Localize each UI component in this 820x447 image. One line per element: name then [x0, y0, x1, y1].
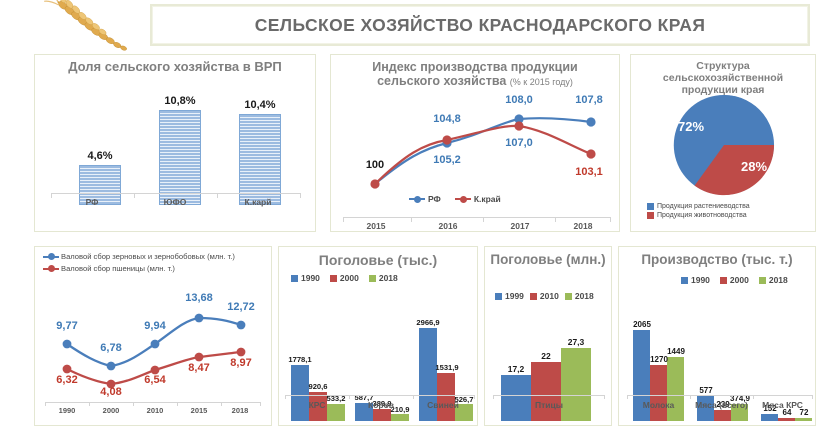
legend-item-crop[interactable]: Продукция растениеводства — [647, 203, 750, 210]
chart-title-production-index: Индекс производства продукции сельского … — [331, 55, 619, 89]
value-label-idx-rf-2016: 104,8 — [419, 113, 475, 125]
pie-value-livestock: 28% — [727, 159, 781, 174]
bar-korov-2018 — [391, 414, 409, 421]
legend-swatch-1999-icon — [495, 293, 502, 300]
wheat-ears-icon — [34, 2, 142, 48]
legend-item-prod-1990[interactable]: 1990 — [681, 275, 710, 285]
chart-production-tons-plot: 2065 1270 1449 577 239 374,9 152 64 72 М… — [627, 291, 813, 421]
bar-grp-yufo — [159, 110, 201, 205]
chart-title-product-structure: Структура сельскохозяйственной продукции… — [631, 55, 815, 96]
value-label-krs-2000: 920,6 — [299, 382, 337, 391]
value-label-grp-kkray: 10,4% — [228, 99, 292, 111]
chart-title-poultry-text: Поголовье (млн.) — [490, 252, 605, 267]
value-label-wheat-2015: 8,47 — [175, 362, 223, 374]
bar-myasa-krs-2000 — [778, 418, 795, 421]
value-label-idx-kkray-2016: 105,2 — [419, 154, 475, 166]
legend-label-wheat: Валовой сбор пшеницы (млн. т.) — [61, 264, 175, 273]
chart-poultry-plot: 17,2 22 27,3 Птицы — [493, 309, 605, 421]
value-label-grp-rf: 4,6% — [68, 150, 132, 162]
value-label-grain-2000: 6,78 — [87, 342, 135, 354]
legend-label-grain: Валовой сбор зерновых и зернобобовых (мл… — [61, 252, 235, 261]
legend-line-rf-icon — [409, 198, 425, 200]
value-label-idx-kkray-2018: 103,1 — [561, 166, 617, 178]
xlabel-grp-rf: РФ — [60, 197, 124, 207]
legend-label-livestock-2018: 2018 — [379, 273, 398, 283]
legend-swatch-crop-icon — [647, 203, 654, 210]
panel-production-index: Индекс производства продукции сельского … — [330, 54, 620, 232]
xlabel-idx-2015: 2015 — [347, 221, 405, 231]
xlabel-grain-1990: 1990 — [45, 406, 89, 415]
legend-item-rf[interactable]: РФ — [409, 194, 441, 204]
value-label-poultry-2010: 22 — [525, 351, 567, 361]
pie-value-crop: 72% — [664, 119, 718, 134]
xlabel-grp-yufo: ЮФО — [143, 197, 207, 207]
legend-label-poultry-2018: 2018 — [575, 291, 594, 301]
dashboard-root: СЕЛЬСКОЕ ХОЗЯЙСТВО КРАСНОДАРСКОГО КРАЯ Д… — [0, 0, 820, 447]
chart-title-grp-share: Доля сельского хозяйства в ВРП — [35, 55, 315, 75]
legend-swatch-2018-icon — [369, 275, 376, 282]
chart-product-structure-plot: 72% 28% — [659, 93, 789, 197]
bar-poultry-1999 — [501, 375, 531, 421]
legend-swatch-prod-2000-icon — [720, 277, 727, 284]
chart-production-index-plot: 100 104,8 105,2 108,0 107,0 107,8 103,1 … — [343, 97, 611, 227]
legend-label-prod-1990: 1990 — [691, 275, 710, 285]
value-label-grain-2018: 12,72 — [215, 301, 267, 313]
bar-moloka-2000 — [650, 365, 667, 421]
xlabel-grain-2018: 2018 — [219, 406, 261, 415]
xlabel-grain-2015: 2015 — [177, 406, 221, 415]
chart-subtitle-text: (% к 2015 году) — [510, 77, 573, 87]
panel-product-structure: Структура сельскохозяйственной продукции… — [630, 54, 816, 232]
legend-item-livestock-2000[interactable]: 2000 — [330, 273, 359, 283]
legend-label-crop: Продукция растениеводства — [657, 203, 750, 210]
value-label-poultry-1999: 17,2 — [495, 364, 537, 374]
value-label-grp-yufo: 10,8% — [148, 95, 212, 107]
legend-label-prod-2000: 2000 — [730, 275, 749, 285]
value-label-grain-1990: 9,77 — [43, 320, 91, 332]
legend-item-kkray[interactable]: К.край — [455, 194, 501, 204]
bar-myasa-2000 — [714, 410, 731, 421]
page-title: СЕЛЬСКОЕ ХОЗЯЙСТВО КРАСНОДАРСКОГО КРАЯ — [255, 15, 706, 36]
header: СЕЛЬСКОЕ ХОЗЯЙСТВО КРАСНОДАРСКОГО КРАЯ — [0, 0, 820, 50]
legend-item-livestock-1990[interactable]: 1990 — [291, 273, 320, 283]
legend-production-index: РФ К.край — [409, 194, 515, 204]
value-label-krs-1990: 1778,1 — [279, 355, 321, 364]
legend-swatch-2000-icon — [330, 275, 337, 282]
panel-grain-harvest: Валовой сбор зерновых и зернобобовых (мл… — [34, 246, 272, 426]
value-label-poultry-2018: 27,3 — [555, 337, 597, 347]
legend-label-rf: РФ — [428, 194, 441, 204]
chart-grp-share-plot: 4,6% 10,8% 10,4% РФ ЮФО К.карй — [51, 83, 301, 205]
xlabel-krs: КРС — [285, 400, 349, 410]
value-label-moloka-1990: 2065 — [625, 320, 659, 329]
panel-production-tons: Производство (тыс. т.) 1990 2000 2018 — [618, 246, 816, 426]
production-index-lines — [343, 97, 611, 209]
legend-swatch-poultry-2018-icon — [565, 293, 572, 300]
bar-grp-kkray — [239, 114, 281, 205]
legend-swatch-livestock-icon — [647, 212, 654, 219]
value-label-sviney-2000: 1531,9 — [427, 363, 467, 372]
value-label-moloka-2018: 1449 — [659, 347, 693, 356]
legend-item-prod-2018[interactable]: 2018 — [759, 275, 788, 285]
legend-swatch-2010-icon — [530, 293, 537, 300]
value-label-moloka-2000: 1270 — [642, 355, 676, 364]
xlabel-myasa-krs: Мяса КРС — [752, 400, 813, 410]
legend-label-kkray: К.край — [474, 194, 501, 204]
legend-grain-harvest: Валовой сбор зерновых и зернобобовых (мл… — [43, 252, 249, 273]
legend-item-poultry-2018[interactable]: 2018 — [565, 291, 594, 301]
xlabel-korov: Коров — [349, 400, 413, 410]
chart-livestock-plot: 1778,1 920,6 533,2 587,7 389,9 210,9 296… — [285, 291, 475, 421]
legend-swatch-prod-2018-icon — [759, 277, 766, 284]
legend-label-livestock-1990: 1990 — [301, 273, 320, 283]
legend-swatch-1990-icon — [291, 275, 298, 282]
legend-item-prod-2000[interactable]: 2000 — [720, 275, 749, 285]
legend-item-grain[interactable]: Валовой сбор зерновых и зернобобовых (мл… — [43, 252, 235, 261]
chart-grain-harvest-plot: 9,77 6,78 9,94 13,68 12,72 6,32 4,08 6,5… — [45, 287, 263, 417]
xlabel-poultry: Птицы — [493, 400, 605, 410]
legend-label-poultry-1999: 1999 — [505, 291, 524, 301]
legend-label-prod-2018: 2018 — [769, 275, 788, 285]
bar-moloka-2018 — [667, 357, 684, 421]
chart-title-poultry: Поголовье (млн.) — [485, 247, 611, 268]
legend-item-wheat[interactable]: Валовой сбор пшеницы (млн. т.) — [43, 264, 235, 273]
legend-line-wheat-icon — [43, 268, 59, 270]
value-label-wheat-2000: 4,08 — [87, 386, 135, 398]
value-label-sviney-1990: 2966,9 — [407, 318, 449, 327]
pie-chart — [659, 93, 789, 197]
value-label-grain-2010: 9,94 — [131, 320, 179, 332]
value-label-wheat-1990: 6,32 — [43, 374, 91, 386]
xlabel-idx-2018: 2018 — [557, 221, 609, 231]
bar-krs-1990 — [291, 365, 309, 421]
legend-production-tons: 1990 2000 2018 — [681, 275, 788, 285]
panel-grp-share: Доля сельского хозяйства в ВРП 4,6% 10,8… — [34, 54, 316, 232]
value-label-idx-kkray-2017: 107,0 — [491, 137, 547, 149]
xlabel-sviney: Свиней — [412, 400, 474, 410]
xlabel-grain-2000: 2000 — [89, 406, 133, 415]
panel-poultry-millions: Поголовье (млн.) 1999 2010 2018 17,2 22 — [484, 246, 612, 426]
xlabel-myasa: Мяса (всего) — [690, 400, 753, 410]
xlabel-grp-kkray: К.карй — [226, 197, 290, 207]
value-label-myasa-1990: 577 — [691, 386, 721, 395]
xlabel-idx-2016: 2016 — [419, 221, 477, 231]
legend-product-structure: Продукция растениеводства Продукция живо… — [647, 203, 760, 219]
xlabel-grain-2010: 2010 — [133, 406, 177, 415]
legend-line-grain-icon — [43, 256, 59, 258]
xlabel-moloka: Молока — [627, 400, 690, 410]
xlabel-idx-2017: 2017 — [491, 221, 549, 231]
chart-title-production-tons: Производство (тыс. т.) — [619, 247, 815, 268]
chart-title-livestock: Поголовье (тыс.) — [279, 247, 477, 268]
panel-livestock-thousands: Поголовье (тыс.) 1990 2000 2018 — [278, 246, 478, 426]
legend-item-poultry-1999[interactable]: 1999 — [495, 291, 524, 301]
value-label-idx-rf-2018: 107,8 — [561, 94, 617, 106]
legend-item-livestock[interactable]: Продукция животноводства — [647, 212, 750, 219]
value-label-wheat-2010: 6,54 — [131, 374, 179, 386]
legend-poultry: 1999 2010 2018 — [495, 291, 594, 301]
bar-myasa-krs-2018 — [795, 418, 812, 421]
legend-label-livestock-2000: 2000 — [340, 273, 359, 283]
legend-item-poultry-2010[interactable]: 2010 — [530, 291, 559, 301]
legend-swatch-prod-1990-icon — [681, 277, 688, 284]
legend-livestock: 1990 2000 2018 — [291, 273, 408, 283]
value-label-wheat-2018: 8,97 — [217, 357, 265, 369]
dashboard-title-box: СЕЛЬСКОЕ ХОЗЯЙСТВО КРАСНОДАРСКОГО КРАЯ — [150, 4, 810, 46]
legend-label-livestock: Продукция животноводства — [657, 212, 747, 219]
legend-line-kkray-icon — [455, 198, 471, 200]
value-label-idx-rf-2017: 108,0 — [491, 94, 547, 106]
value-label-idx-kkray-2015: 100 — [347, 159, 403, 171]
legend-label-poultry-2010: 2010 — [540, 291, 559, 301]
legend-item-livestock-2018[interactable]: 2018 — [369, 273, 398, 283]
